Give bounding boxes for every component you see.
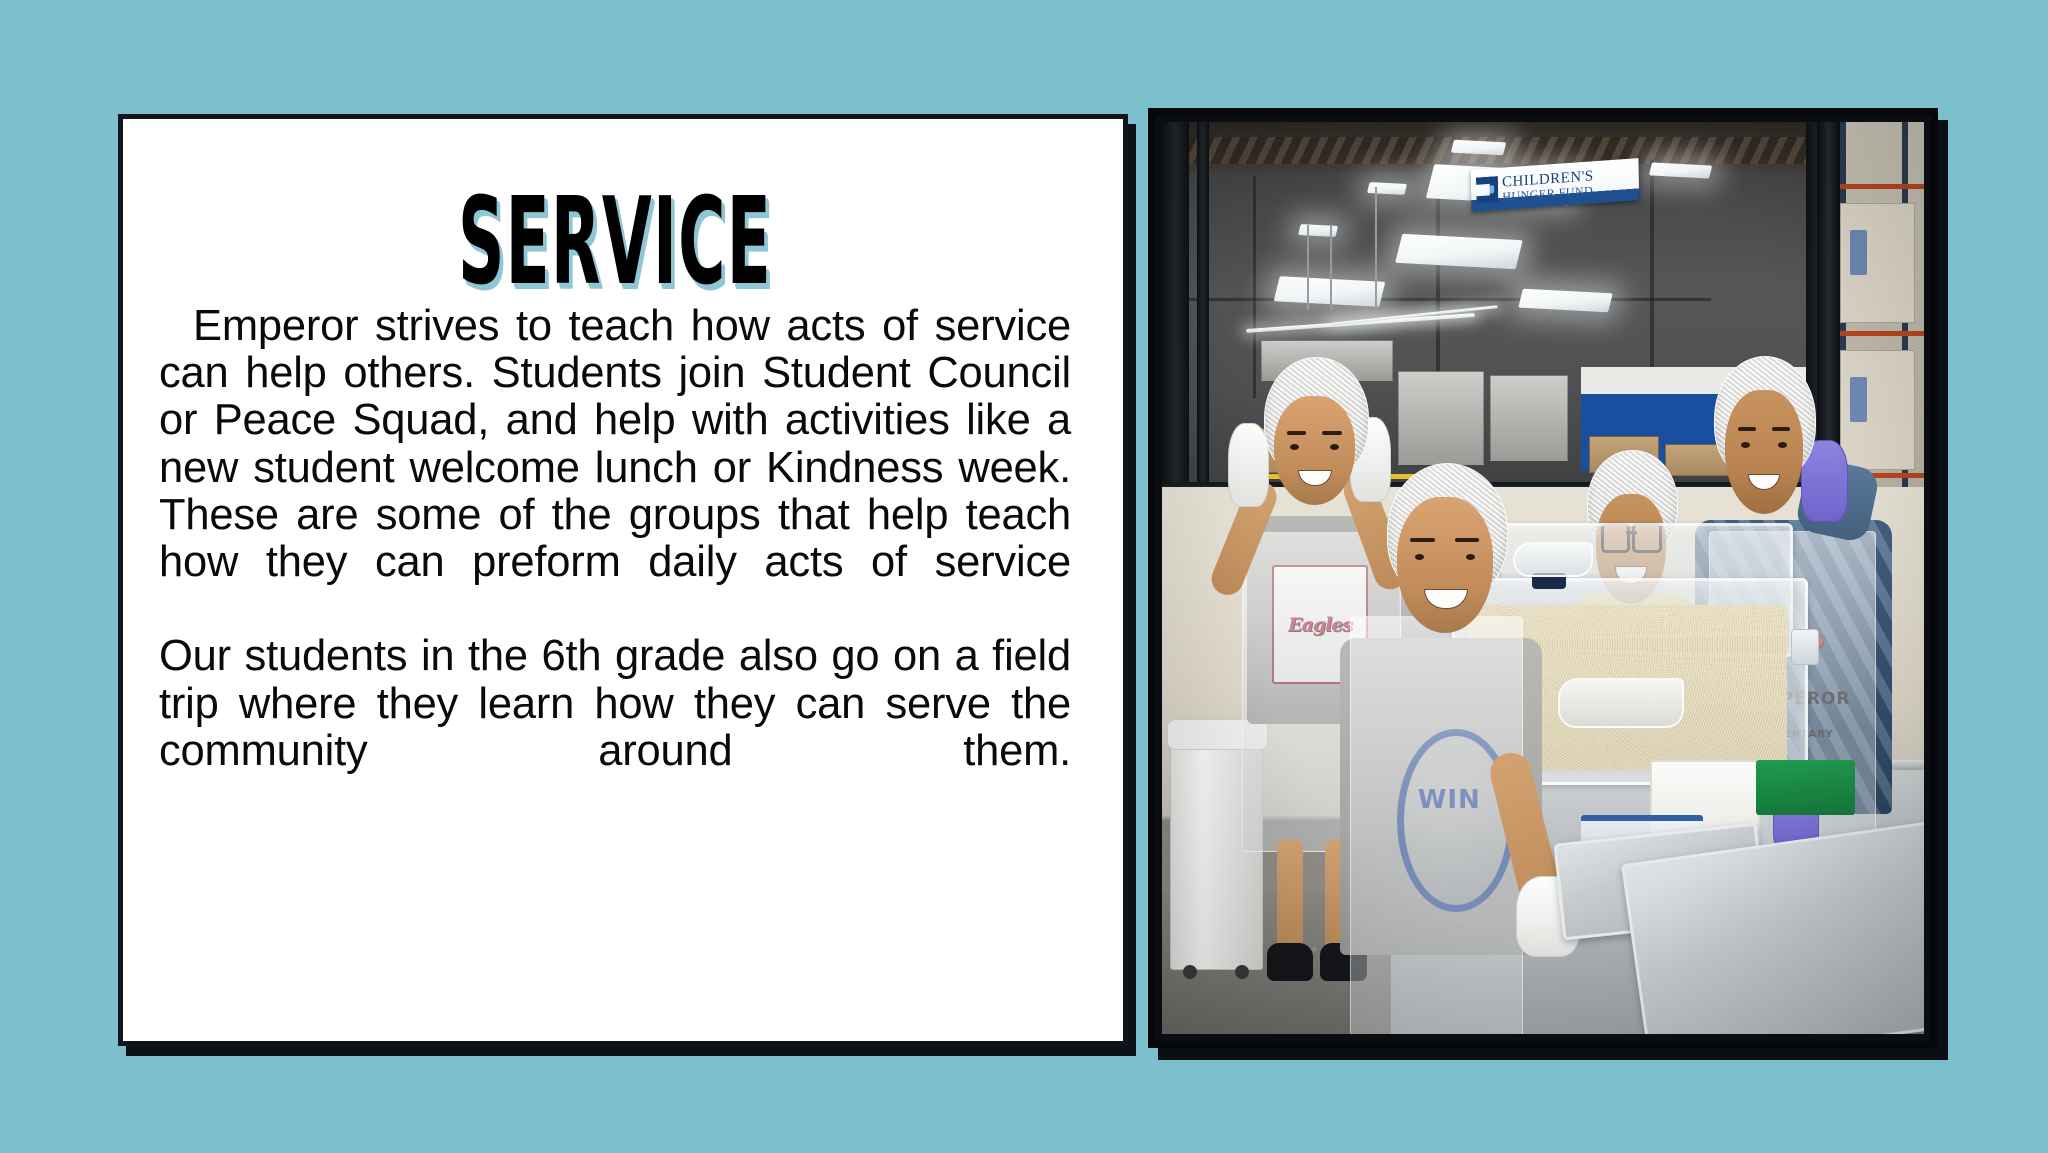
brow-right: [1455, 538, 1480, 542]
smile: [1748, 474, 1780, 490]
page-title: SERVICE: [332, 181, 897, 302]
brow-right: [1322, 431, 1341, 435]
slide-canvas: SERVICE Emperor strives to teach how act…: [0, 0, 2048, 1153]
roll-up-door-3: [1490, 375, 1568, 461]
photo-frame: CHILDREN'S HUNGER FUND: [1148, 108, 1938, 1048]
window-mullion-left: [1162, 122, 1189, 505]
student-back-left-glove-left: [1228, 423, 1269, 507]
service-photo: CHILDREN'S HUNGER FUND: [1162, 122, 1924, 1034]
brow-left: [1287, 431, 1306, 435]
hanger-rod-1: [1307, 225, 1309, 309]
wall-beam-3: [1253, 176, 1256, 398]
eye-right: [1778, 442, 1787, 448]
chf-sign-text: CHILDREN'S HUNGER FUND: [1502, 169, 1594, 202]
smile: [1298, 470, 1332, 486]
photo-card: CHILDREN'S HUNGER FUND: [1148, 108, 1938, 1048]
food-bin-main-clip: [1791, 629, 1819, 665]
ceiling-light-panel-4: [1518, 288, 1613, 312]
eye-right: [1466, 554, 1475, 560]
rack-beam-1: [1833, 184, 1924, 189]
body-paragraph-2: Our students in the 6th grade also go on…: [159, 633, 1071, 822]
eye-left: [1415, 554, 1424, 560]
student-back-left-shoe-1: [1267, 943, 1313, 981]
wall-beam-1: [1436, 168, 1440, 398]
student-front-center: WIN: [1330, 469, 1589, 1034]
text-card: SERVICE Emperor strives to teach how act…: [118, 114, 1128, 1046]
eye-left: [1741, 442, 1750, 448]
brow-left: [1410, 538, 1435, 542]
eye-right: [1330, 444, 1339, 450]
rack-pallet-1: [1840, 203, 1915, 324]
student-right-face: [1725, 390, 1803, 514]
text-card-body: SERVICE Emperor strives to teach how act…: [118, 114, 1128, 1046]
ceiling-light-panel-7: [1298, 224, 1338, 237]
student-back-left-leg-1: [1277, 839, 1304, 959]
ceiling-light-panel-6: [1367, 182, 1407, 195]
hanger-rod-3: [1375, 187, 1377, 310]
ceiling-light-panel-2: [1395, 234, 1522, 269]
text-card-inner: SERVICE Emperor strives to teach how act…: [123, 119, 1123, 1041]
hanger-rod-2: [1330, 225, 1332, 309]
wall-beam-4: [1162, 298, 1711, 301]
brow-left: [1738, 427, 1757, 431]
brow-right: [1772, 427, 1791, 431]
chf-logo-icon: [1476, 176, 1498, 204]
green-cutting-board: [1756, 760, 1855, 815]
ceiling-light-panel-8: [1648, 163, 1711, 180]
student-front-apron: [1350, 616, 1523, 1034]
student-front-face: [1397, 497, 1493, 633]
rack-beam-2: [1833, 331, 1924, 336]
eye-left: [1290, 444, 1299, 450]
body-paragraph-1: Emperor strives to teach how acts of ser…: [159, 303, 1071, 633]
photo-scene: CHILDREN'S HUNGER FUND: [1162, 122, 1924, 1034]
wall-beam-2: [1650, 160, 1654, 397]
window-mullion-mid: [1197, 122, 1209, 505]
smile: [1424, 589, 1468, 609]
